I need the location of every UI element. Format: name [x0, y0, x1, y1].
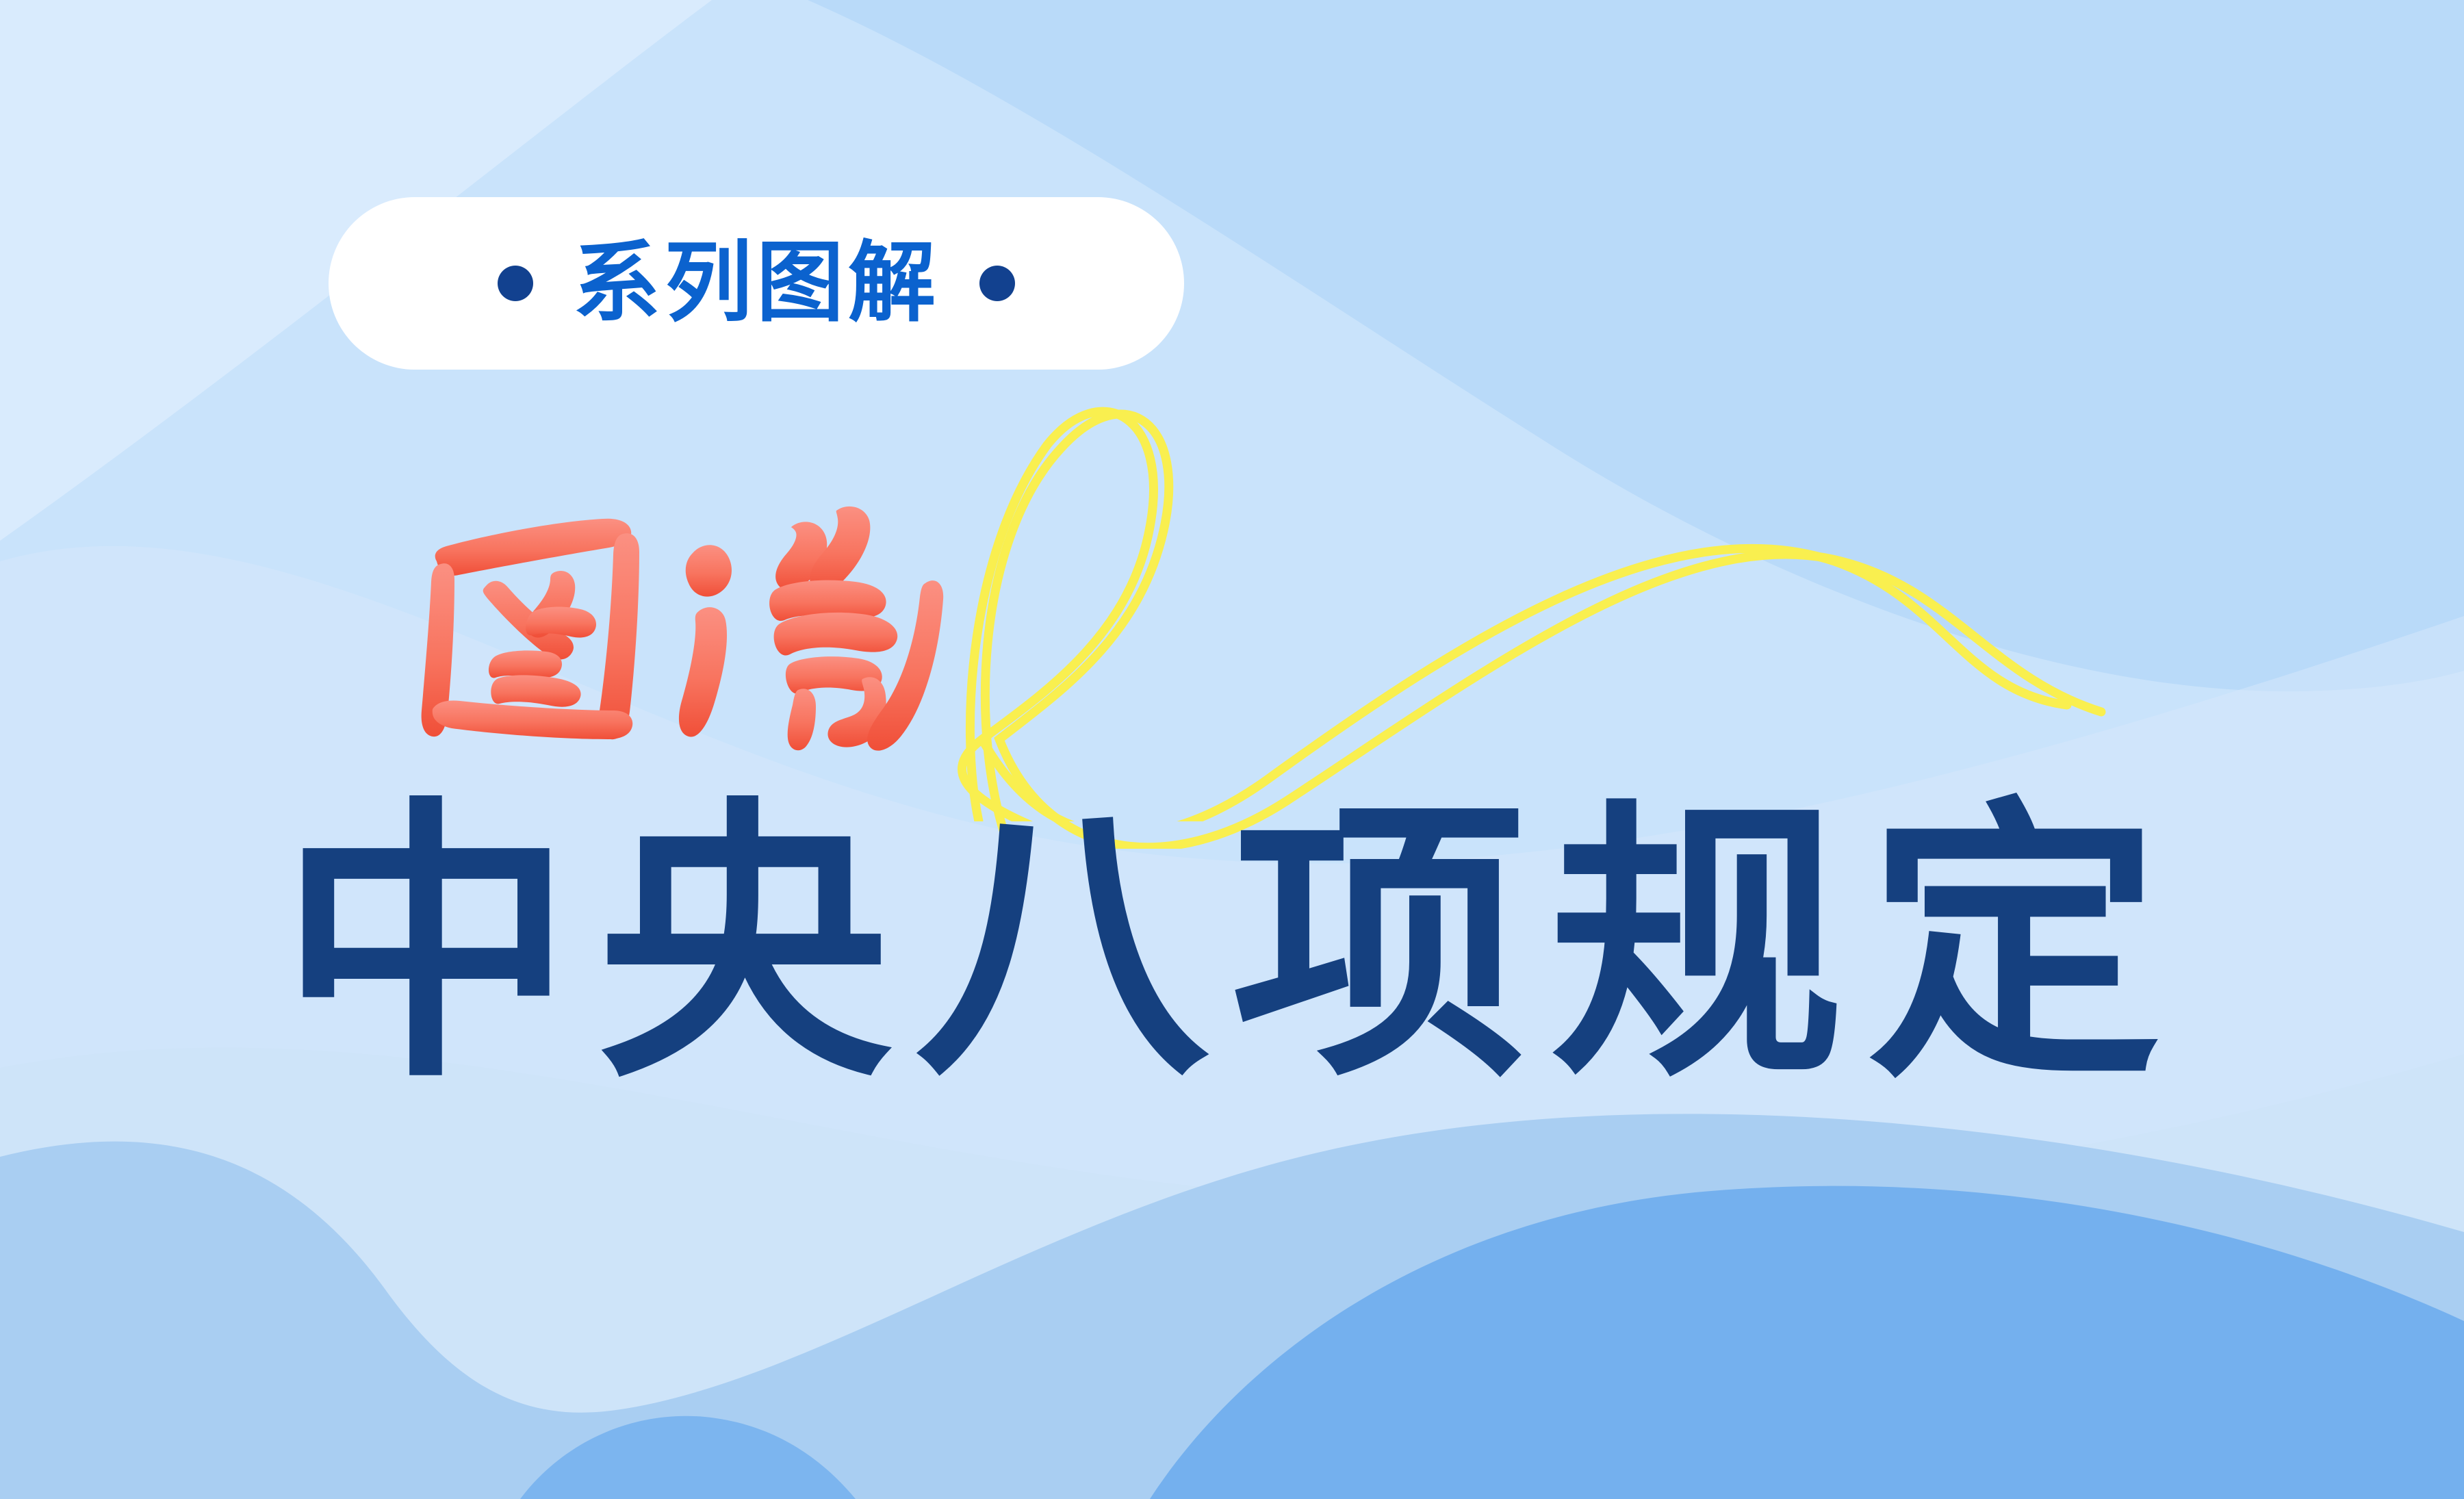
- page-title: 中央八项规定: [0, 787, 2464, 1105]
- right-bullet-dot: [979, 266, 1015, 301]
- series-badge[interactable]: 系列图解: [329, 197, 1184, 370]
- calligraphy-glyphs: [422, 507, 944, 751]
- poster-canvas: 系列图解: [0, 0, 2464, 1499]
- badge-label: 系列图解: [573, 240, 940, 327]
- left-bullet-dot: [498, 266, 533, 301]
- calligraphy-tushuo: [383, 438, 1013, 753]
- main-title-text: 中央八项规定: [279, 787, 2185, 1105]
